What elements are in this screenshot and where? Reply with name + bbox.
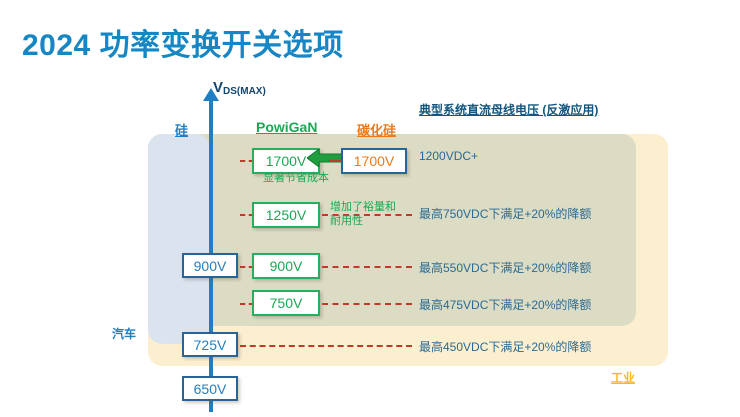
voltage-box-powigan-750: 750V: [252, 290, 320, 316]
axis-label: VDS(MAX): [213, 79, 266, 96]
bus-voltage-row-2: 最高750VDC下满足+20%的降额: [419, 205, 591, 222]
connector-dash: [322, 303, 412, 305]
axis-label-sub: DS(MAX): [223, 86, 266, 97]
voltage-box-powigan-900: 900V: [252, 253, 320, 279]
column-header-powigan: PowiGaN: [256, 119, 317, 135]
column-header-silicon: 硅: [175, 120, 188, 139]
axis-label-main: V: [213, 79, 223, 96]
voltage-box-silicon-900: 900V: [182, 253, 238, 278]
region-automotive: [148, 134, 210, 344]
bus-voltage-row-1: 1200VDC+: [419, 149, 478, 163]
left-arrow-icon: [307, 149, 343, 167]
bus-voltage-row-5: 最高450VDC下满足+20%的降额: [419, 338, 591, 355]
bus-voltage-row-4: 最高475VDC下满足+20%的降额: [419, 296, 591, 313]
connector-dash: [322, 266, 412, 268]
slide-canvas: 2024 功率变换开关选项 VDS(MAX) 硅 PowiGaN 碳化硅 典型系…: [0, 0, 740, 417]
voltage-box-sic-1700: 1700V: [341, 148, 407, 174]
bus-voltage-row-3: 最高550VDC下满足+20%的降额: [419, 259, 591, 276]
connector-dash: [329, 160, 341, 162]
voltage-box-silicon-725: 725V: [182, 332, 238, 357]
voltage-box-silicon-650: 650V: [182, 376, 238, 401]
note-margin-line1: 增加了裕量和: [330, 201, 396, 215]
voltage-box-powigan-1250: 1250V: [252, 202, 320, 228]
note-margin: 增加了裕量和 耐用性: [330, 201, 396, 229]
connector-dash: [240, 345, 412, 347]
region-label-industrial: 工业: [611, 369, 635, 386]
page-title: 2024 功率变换开关选项: [22, 20, 344, 64]
note-margin-line2: 耐用性: [330, 215, 396, 229]
column-header-bus-voltage: 典型系统直流母线电压 (反激应用): [419, 101, 598, 118]
region-label-automotive: 汽车: [112, 325, 136, 342]
column-header-sic: 碳化硅: [357, 120, 396, 139]
note-cost-saving: 显著节省成本: [263, 172, 329, 186]
